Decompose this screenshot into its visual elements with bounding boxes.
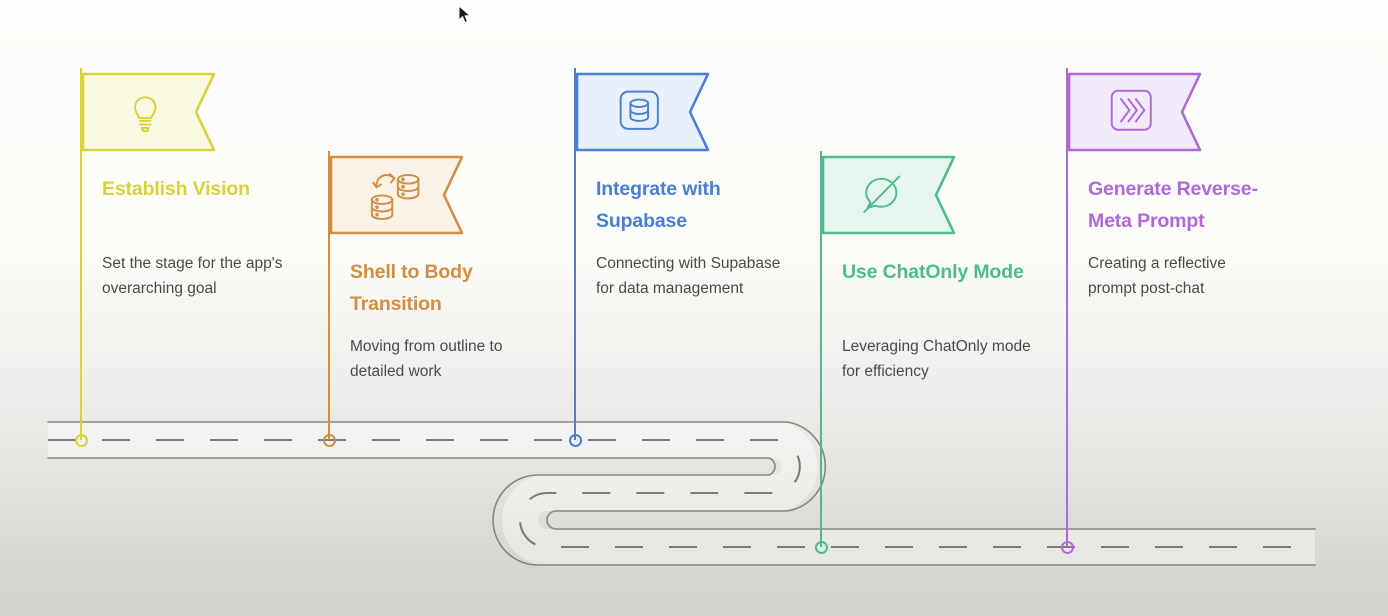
milestone-road-node[interactable] [569, 434, 582, 447]
milestone-title: Generate Reverse-Meta Prompt [1088, 174, 1273, 237]
milestone-road-node[interactable] [75, 434, 88, 447]
milestone-road-node[interactable] [323, 434, 336, 447]
milestone-title: Establish Vision [102, 174, 287, 206]
milestone-flag-database-icon[interactable] [574, 68, 714, 156]
milestone-description: Set the stage for the app's overarching … [102, 251, 292, 301]
milestone-title: Use ChatOnly Mode [842, 257, 1027, 289]
milestone-road-node[interactable] [815, 541, 828, 554]
milestone-description: Moving from outline to detailed work [350, 334, 540, 384]
milestone-title: Integrate with Supabase [596, 174, 781, 237]
milestone-flag-triple-chevron-icon[interactable] [1066, 68, 1206, 156]
milestone-flag-lightbulb-icon[interactable] [80, 68, 220, 156]
milestone-description: Leveraging ChatOnly mode for efficiency [842, 334, 1032, 384]
roadmap-canvas: Establish VisionSet the stage for the ap… [0, 0, 1388, 616]
milestone-title: Shell to Body Transition [350, 257, 535, 320]
milestone-road-node[interactable] [1061, 541, 1074, 554]
milestone-description: Creating a reflective prompt post-chat [1088, 251, 1278, 301]
milestone-flag-chat-bubble-slash-icon[interactable] [820, 151, 960, 239]
milestone-description: Connecting with Supabase for data manage… [596, 251, 786, 301]
milestone-flag-database-sync-icon[interactable] [328, 151, 468, 239]
